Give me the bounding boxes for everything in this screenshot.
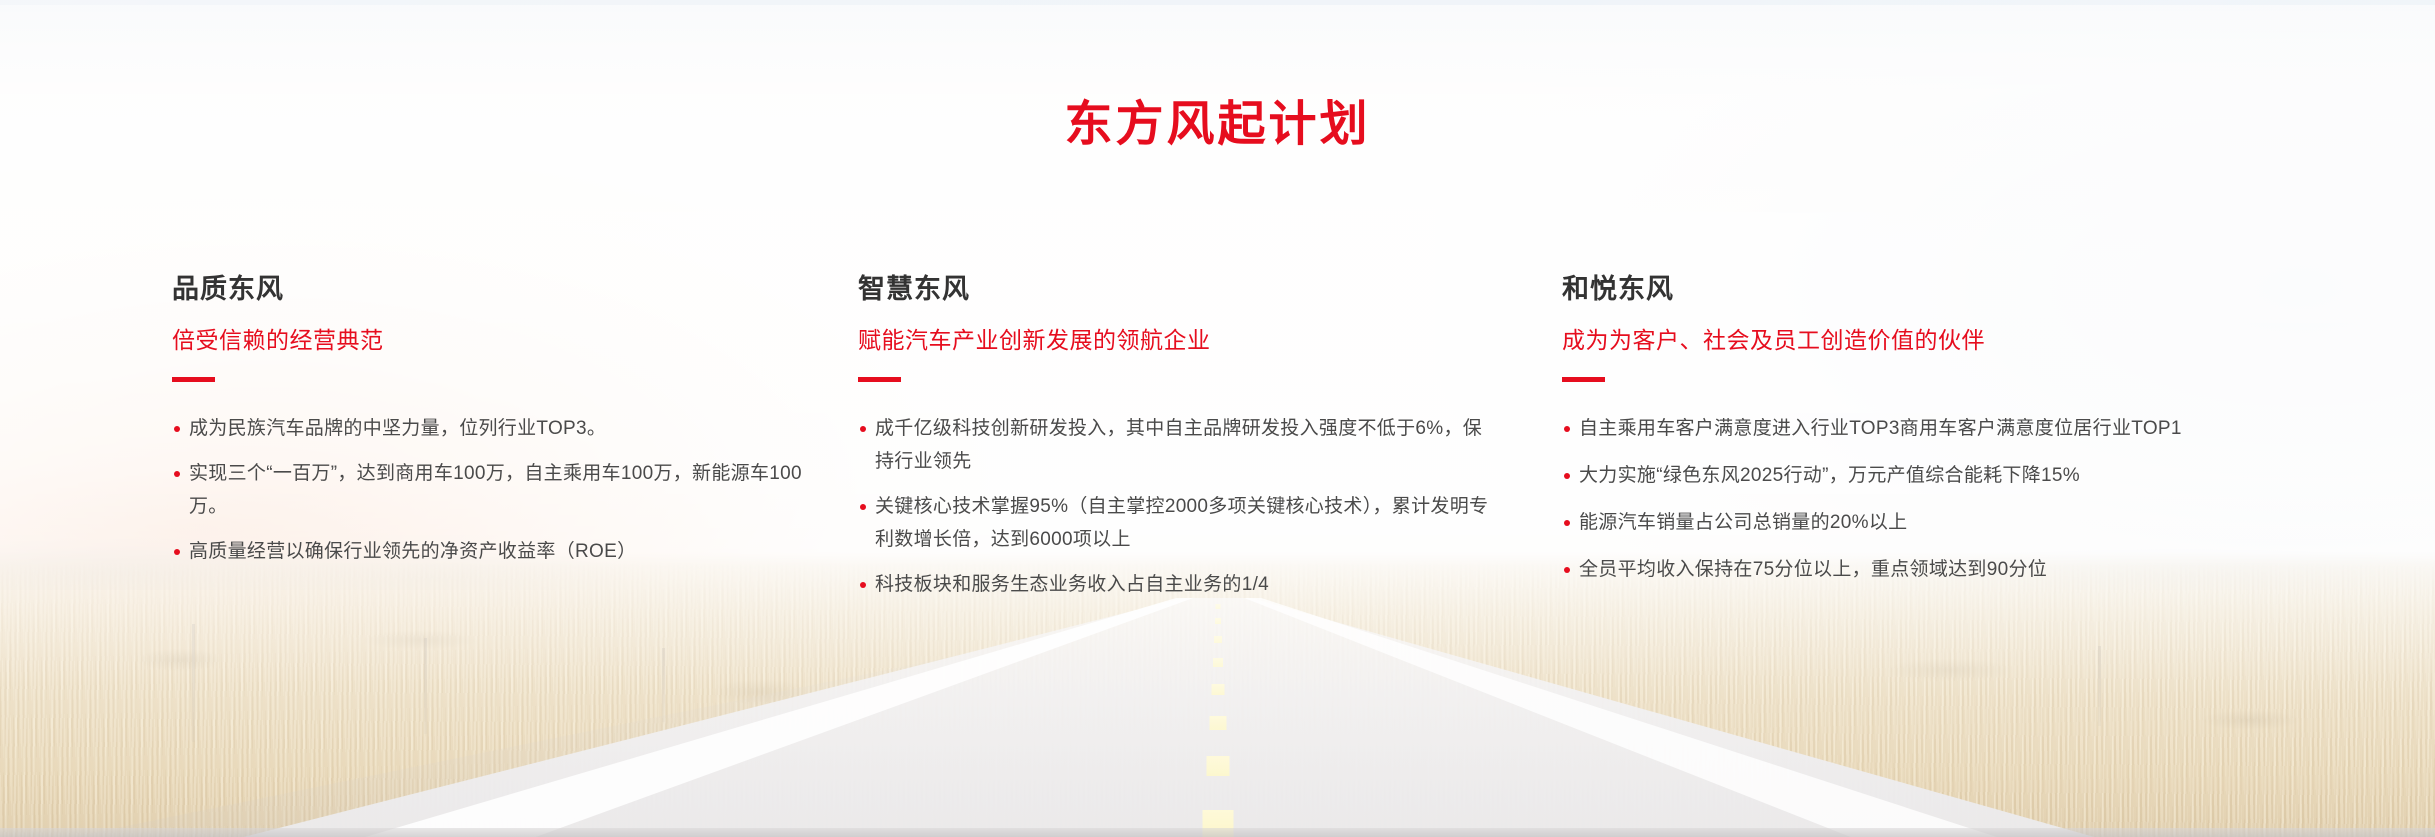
column-subtitle: 倍受信赖的经营典范 [172,329,812,352]
slide-content: 东方风起计划 品质东风 倍受信赖的经营典范 成为民族汽车品牌的中坚力量，位列行业… [0,0,2435,837]
list-item: 成千亿级科技创新研发投入，其中自主品牌研发投入强度不低于6%，保持行业领先 [858,412,1498,478]
page-title: 东方风起计划 [0,84,2435,154]
list-item: 关键核心技术掌握95%（自主掌控2000多项关键核心技术），累计发明专利数增长倍… [858,490,1498,556]
list-item: 大力实施“绿色东风2025行动”，万元产值综合能耗下降15% [1562,459,2322,492]
column-heading: 智慧东风 [858,276,1498,303]
list-item: 成为民族汽车品牌的中坚力量，位列行业TOP3。 [172,412,812,445]
list-item: 能源汽车销量占公司总销量的20%以上 [1562,506,2322,539]
pillar-columns: 品质东风 倍受信赖的经营典范 成为民族汽车品牌的中坚力量，位列行业TOP3。 实… [0,276,2435,736]
list-item: 自主乘用车客户满意度进入行业TOP3商用车客户满意度位居行业TOP1 [1562,412,2322,445]
list-item: 实现三个“一百万”，达到商用车100万，自主乘用车100万，新能源车100万。 [172,457,812,523]
column-heading: 品质东风 [172,276,812,303]
list-item: 高质量经营以确保行业领先的净资产收益率（ROE） [172,535,812,568]
column-heading: 和悦东风 [1562,276,2322,303]
list-item: 全员平均收入保持在75分位以上，重点领域达到90分位 [1562,553,2322,586]
list-item: 科技板块和服务生态业务收入占自主业务的1/4 [858,568,1498,601]
column-subtitle: 成为为客户、社会及员工创造价值的伙伴 [1562,329,2322,352]
column-subtitle: 赋能汽车产业创新发展的领航企业 [858,329,1498,352]
pillar-column-quality: 品质东风 倍受信赖的经营典范 成为民族汽车品牌的中坚力量，位列行业TOP3。 实… [172,276,812,580]
pillar-column-harmony: 和悦东风 成为为客户、社会及员工创造价值的伙伴 自主乘用车客户满意度进入行业TO… [1562,276,2322,600]
bullet-list: 自主乘用车客户满意度进入行业TOP3商用车客户满意度位居行业TOP1 大力实施“… [1562,412,2322,586]
slide-canvas: 东方风起计划 品质东风 倍受信赖的经营典范 成为民族汽车品牌的中坚力量，位列行业… [0,0,2435,837]
column-divider [1562,377,1605,382]
bullet-list: 成为民族汽车品牌的中坚力量，位列行业TOP3。 实现三个“一百万”，达到商用车1… [172,412,812,568]
pillar-column-smart: 智慧东风 赋能汽车产业创新发展的领航企业 成千亿级科技创新研发投入，其中自主品牌… [858,276,1498,613]
column-divider [858,377,901,382]
column-divider [172,377,215,382]
bullet-list: 成千亿级科技创新研发投入，其中自主品牌研发投入强度不低于6%，保持行业领先 关键… [858,412,1498,601]
